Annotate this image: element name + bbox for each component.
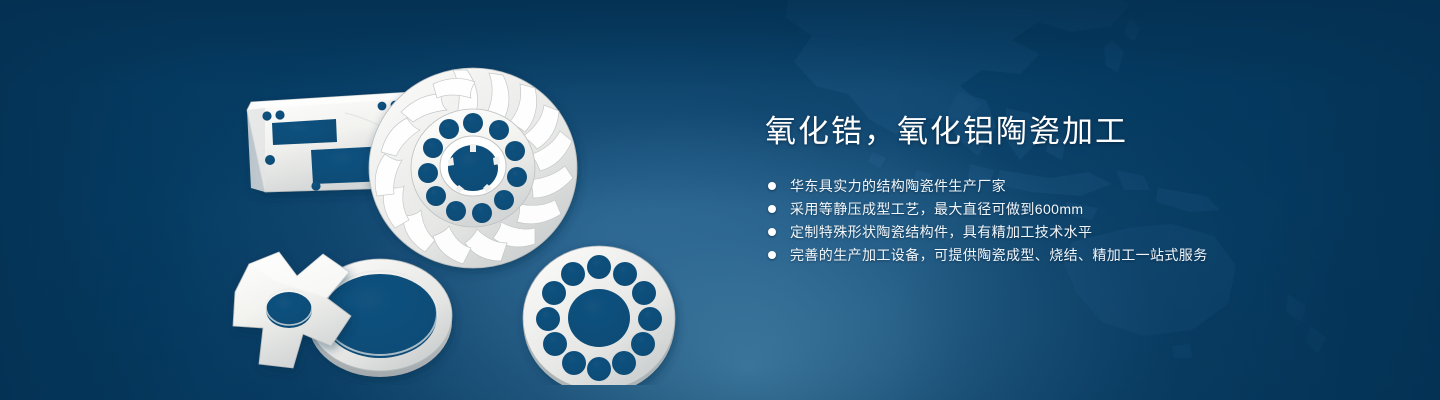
list-item: 采用等静压成型工艺，最大直径可做到600mm bbox=[768, 201, 1325, 217]
bullet-dot-icon bbox=[768, 205, 776, 213]
list-item: 华东具实力的结构陶瓷件生产厂家 bbox=[768, 178, 1325, 194]
feature-list: 华东具实力的结构陶瓷件生产厂家 采用等静压成型工艺，最大直径可做到600mm 定… bbox=[768, 178, 1325, 263]
bullet-dot-icon bbox=[768, 228, 776, 236]
list-item-label: 采用等静压成型工艺，最大直径可做到600mm bbox=[790, 201, 1083, 217]
page-title: 氧化锆，氧化铝陶瓷加工 bbox=[765, 112, 1325, 152]
list-item-label: 定制特殊形状陶瓷结构件，具有精加工技术水平 bbox=[790, 224, 1092, 240]
ceramic-perforated-disc-part bbox=[523, 246, 675, 385]
product-photo-cluster bbox=[225, 40, 725, 385]
list-item-label: 完善的生产加工设备，可提供陶瓷成型、烧结、精加工一站式服务 bbox=[790, 247, 1208, 263]
list-item: 完善的生产加工设备，可提供陶瓷成型、烧结、精加工一站式服务 bbox=[768, 247, 1325, 263]
bullet-dot-icon bbox=[768, 182, 776, 190]
promo-banner: 氧化锆，氧化铝陶瓷加工 华东具实力的结构陶瓷件生产厂家 采用等静压成型工艺，最大… bbox=[0, 0, 1440, 400]
banner-copy: 氧化锆，氧化铝陶瓷加工 华东具实力的结构陶瓷件生产厂家 采用等静压成型工艺，最大… bbox=[765, 112, 1325, 263]
bullet-dot-icon bbox=[768, 251, 776, 259]
list-item: 定制特殊形状陶瓷结构件，具有精加工技术水平 bbox=[768, 224, 1325, 240]
ceramic-impeller-part bbox=[369, 68, 577, 268]
list-item-label: 华东具实力的结构陶瓷件生产厂家 bbox=[790, 178, 1006, 194]
